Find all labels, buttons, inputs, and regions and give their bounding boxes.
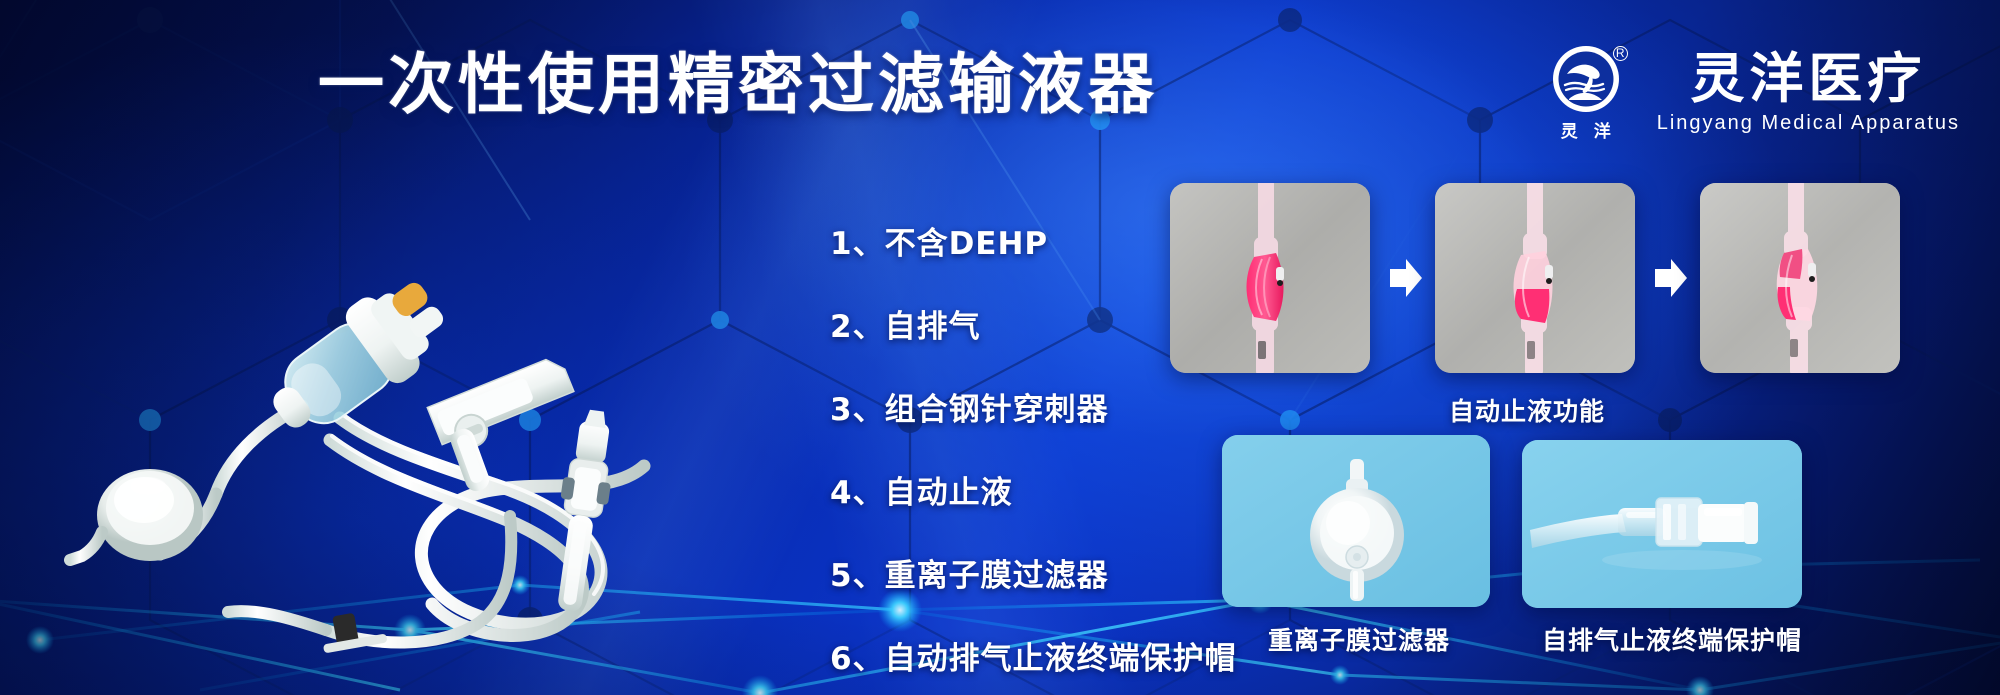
brand-lockup: R 灵洋 灵洋医疗 Lingyang Medical Apparatus bbox=[1537, 44, 1960, 142]
brand-name-block: 灵洋医疗 Lingyang Medical Apparatus bbox=[1657, 51, 1960, 135]
brand-name-en: Lingyang Medical Apparatus bbox=[1657, 112, 1960, 135]
brand-mark: R 灵洋 bbox=[1537, 44, 1635, 142]
showcase-caption-filter: 重离子膜过滤器 bbox=[1268, 621, 1450, 657]
right-arrow-icon-2 bbox=[1651, 255, 1691, 301]
page-title: 一次性使用精密过滤输液器 bbox=[318, 52, 1158, 118]
showcase-caption-cap: 自排气止液终端保护帽 bbox=[1542, 621, 1802, 657]
showcase-panel-cap bbox=[1522, 440, 1802, 608]
sequence-frame-2 bbox=[1435, 183, 1635, 373]
feature-item-5: 5、重离子膜过滤器 bbox=[830, 550, 1237, 595]
sequence-caption: 自动止液功能 bbox=[1449, 392, 1605, 428]
registered-trademark-icon: R bbox=[1613, 46, 1628, 61]
sequence-frame-3 bbox=[1700, 183, 1900, 373]
banner-header: 一次性使用精密过滤输液器 R 灵洋 bbox=[0, 0, 2000, 150]
feature-item-6: 6、自动排气止液终端保护帽 bbox=[830, 633, 1237, 678]
showcase-panel-filter bbox=[1222, 435, 1490, 607]
product-part-roller-clamp bbox=[427, 354, 579, 457]
product-image bbox=[40, 160, 800, 660]
product-banner: 一次性使用精密过滤输液器 R 灵洋 bbox=[0, 0, 2000, 695]
product-part-disc-filter bbox=[70, 469, 203, 561]
brand-name-cn: 灵洋医疗 bbox=[1690, 51, 1926, 108]
feature-item-4: 4、自动止液 bbox=[830, 467, 1237, 512]
sequence-frame-1 bbox=[1170, 183, 1370, 373]
brand-mark-subtitle: 灵洋 bbox=[1545, 117, 1627, 142]
right-arrow-icon bbox=[1386, 255, 1426, 301]
wave-dolphin-circle-logo: R bbox=[1551, 44, 1621, 114]
feature-item-3: 3、组合钢针穿刺器 bbox=[830, 384, 1237, 429]
